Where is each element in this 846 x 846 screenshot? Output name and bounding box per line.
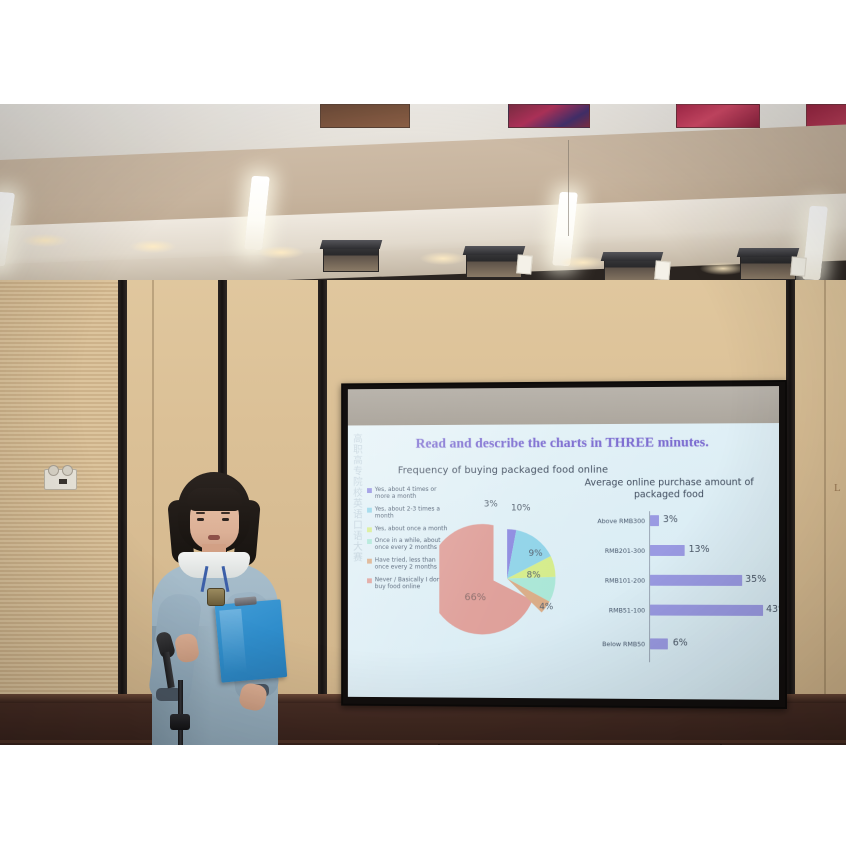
- ceiling-speaker-box-2: [466, 250, 522, 278]
- legend-label: Yes, about 4 times or more a month: [375, 486, 450, 501]
- wall-dark-strip-3: [318, 280, 327, 710]
- wall-dark-strip-4: [786, 280, 795, 710]
- presenter-collar: [178, 552, 250, 578]
- slide-watermark: 高职高专院校英语口语大赛: [350, 433, 362, 678]
- pie-label-3: 3%: [484, 500, 498, 510]
- ceiling-speaker-box-4: [740, 252, 796, 280]
- bar-value-label: 43%: [766, 604, 779, 615]
- projected-slide: 高职高专院校英语口语大赛 Read and describe the chart…: [348, 423, 779, 700]
- pie-label-10: 10%: [511, 503, 530, 513]
- pie-label-66: 66%: [464, 592, 486, 603]
- bar-rmb51-100: [650, 605, 763, 616]
- legend-swatch-icon: [367, 539, 372, 544]
- bar-chart-row: Below RMB50 6%: [569, 634, 771, 661]
- ceiling-downlight-2: [130, 240, 176, 253]
- speaker-paper-tag: [790, 256, 807, 276]
- ceiling-wire: [568, 140, 569, 236]
- ceiling-speaker-box-1: [323, 244, 379, 272]
- presenter-eye-left: [197, 518, 204, 521]
- bar-value-label: 13%: [689, 544, 710, 555]
- speaker-paper-tag: [516, 254, 533, 274]
- presenter-eye-right: [222, 518, 229, 521]
- bar-category-label: Below RMB50: [563, 640, 645, 648]
- emergency-light: [44, 469, 77, 490]
- bar-chart-row: RMB51-100 43%: [569, 600, 771, 627]
- pie-chart-caption: Frequency of buying packaged food online: [398, 465, 608, 477]
- legend-item: Once in a while, about once every 2 mont…: [367, 537, 450, 552]
- wall-ribbed-panel: [0, 280, 118, 710]
- presenter-brow-left: [196, 512, 205, 514]
- clipboard-sheen: [219, 609, 246, 675]
- legend-item: Yes, about 4 times or more a month: [367, 486, 450, 501]
- bar-value-label: 6%: [673, 638, 688, 649]
- microphone-stand-joint: [170, 714, 190, 730]
- bar-chart-row: RMB201-300 13%: [569, 541, 771, 567]
- screen-unlit-band: [348, 386, 779, 425]
- bar-above-rmb300: [650, 515, 659, 526]
- speaker-lid: [737, 248, 800, 257]
- legend-item: Have tried, less than once every 2 month…: [367, 557, 450, 572]
- ceiling-downlight-3: [258, 246, 304, 259]
- legend-swatch-icon: [367, 508, 372, 513]
- legend-item: Yes, about once a month: [367, 525, 450, 532]
- bar-chart-row: Above RMB300 3%: [569, 511, 771, 537]
- legend-swatch-icon: [367, 559, 372, 564]
- presenter-bangs: [187, 488, 242, 511]
- letterbox-top: [0, 0, 846, 104]
- legend-item: Never / Basically I don't buy food onlin…: [367, 576, 450, 591]
- presenter: [118, 466, 308, 745]
- wall-seam-2: [824, 280, 826, 710]
- emergency-light-led: [59, 479, 67, 484]
- ceiling-banner-1: [320, 104, 410, 128]
- legend-swatch-icon: [367, 488, 372, 493]
- pie-chart-legend: Yes, about 4 times or more a month Yes, …: [367, 486, 450, 596]
- bar-value-label: 35%: [745, 574, 766, 585]
- ceiling-banner-2: [508, 104, 590, 128]
- stage-panel-line-2: [438, 744, 440, 745]
- bar-rmb201-300: [650, 545, 685, 556]
- presenter-badge: [207, 588, 225, 606]
- stage-panel-line-3: [720, 744, 722, 745]
- speaker-lid: [601, 252, 664, 261]
- legend-item: Yes, about 2-3 times a month: [367, 505, 450, 520]
- legend-label: Yes, about once a month: [375, 525, 448, 532]
- ceiling-downlight-1: [22, 234, 68, 247]
- clipboard-clip: [234, 596, 257, 606]
- pie-chart-svg: [439, 505, 575, 654]
- bar-category-label: RMB201-300: [563, 547, 645, 555]
- presentation-photograph: L 高职高专院校英语口语大赛 Read and describe the cha…: [0, 104, 846, 745]
- legend-swatch-icon: [367, 527, 372, 532]
- pie-label-9: 9%: [529, 549, 543, 559]
- letterbox-bottom: [0, 745, 846, 846]
- pie-chart: 3% 10% 9% 8% 4% 66%: [439, 505, 575, 654]
- bar-chart-title: Average online purchase amount of packag…: [566, 477, 773, 501]
- ceiling-banner-3: [676, 104, 760, 128]
- bar-chart-row: RMB101-200 35%: [569, 571, 771, 597]
- pie-label-8: 8%: [527, 571, 541, 581]
- bar-chart: Above RMB300 3% RMB201-300 13% RMB101-20…: [569, 511, 771, 669]
- ceiling-downlight-5: [560, 256, 606, 269]
- wall-mark-label: L: [834, 482, 841, 494]
- speaker-lid: [320, 240, 383, 249]
- microphone-stand: [178, 680, 183, 745]
- speaker-paper-tag: [654, 260, 671, 280]
- bar-below-rmb50: [650, 638, 668, 649]
- bar-rmb101-200: [650, 575, 742, 586]
- bar-category-label: Above RMB300: [563, 517, 645, 525]
- pie-label-4: 4%: [539, 602, 553, 612]
- projection-screen: 高职高专院校英语口语大赛 Read and describe the chart…: [341, 380, 787, 709]
- bar-category-label: RMB101-200: [563, 577, 645, 585]
- presenter-mouth: [208, 535, 220, 540]
- bar-value-label: 3%: [663, 514, 678, 525]
- legend-swatch-icon: [367, 578, 372, 583]
- bar-category-label: RMB51-100: [563, 606, 645, 614]
- slide-title: Read and describe the charts in THREE mi…: [348, 435, 779, 453]
- ceiling-downlight-4: [420, 252, 466, 265]
- speaker-lid: [463, 246, 526, 255]
- clipboard: [215, 599, 288, 682]
- presenter-brow-right: [221, 512, 230, 514]
